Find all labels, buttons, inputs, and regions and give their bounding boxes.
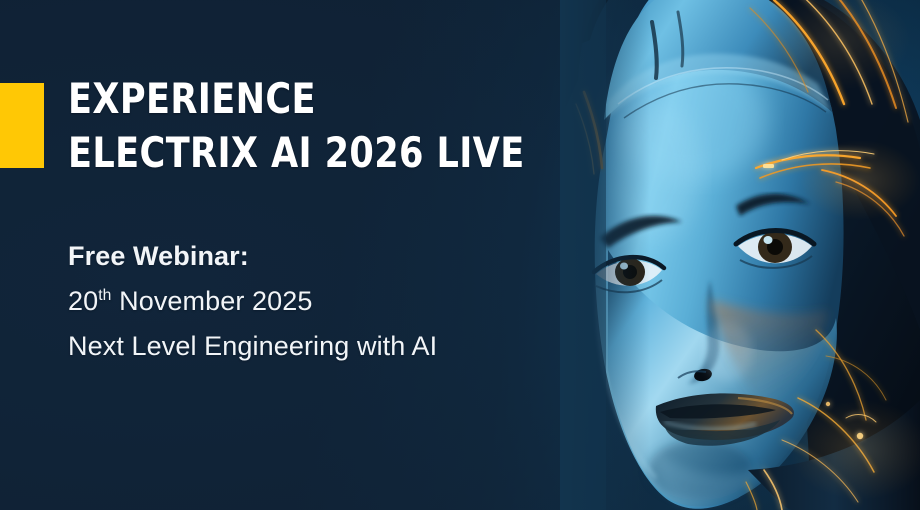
yellow-accent-bar	[0, 83, 44, 168]
banner-content: EXPERIENCE ELECTRIX AI 2026 LIVE Free We…	[0, 0, 640, 510]
webinar-date: 20th November 2025	[68, 279, 437, 324]
webinar-date-ordinal: th	[98, 287, 111, 304]
webinar-date-month-year: November 2025	[112, 286, 313, 316]
webinar-topic: Next Level Engineering with AI	[68, 324, 437, 369]
webinar-label: Free Webinar:	[68, 234, 437, 279]
webinar-details: Free Webinar: 20th November 2025 Next Le…	[68, 234, 437, 369]
headline-line-2: ELECTRIX AI 2026 LIVE	[68, 126, 525, 180]
webinar-promo-banner: EXPERIENCE ELECTRIX AI 2026 LIVE Free We…	[0, 0, 920, 510]
headline: EXPERIENCE ELECTRIX AI 2026 LIVE	[68, 72, 525, 180]
webinar-date-number: 20	[68, 286, 98, 316]
headline-line-1: EXPERIENCE	[68, 72, 525, 126]
